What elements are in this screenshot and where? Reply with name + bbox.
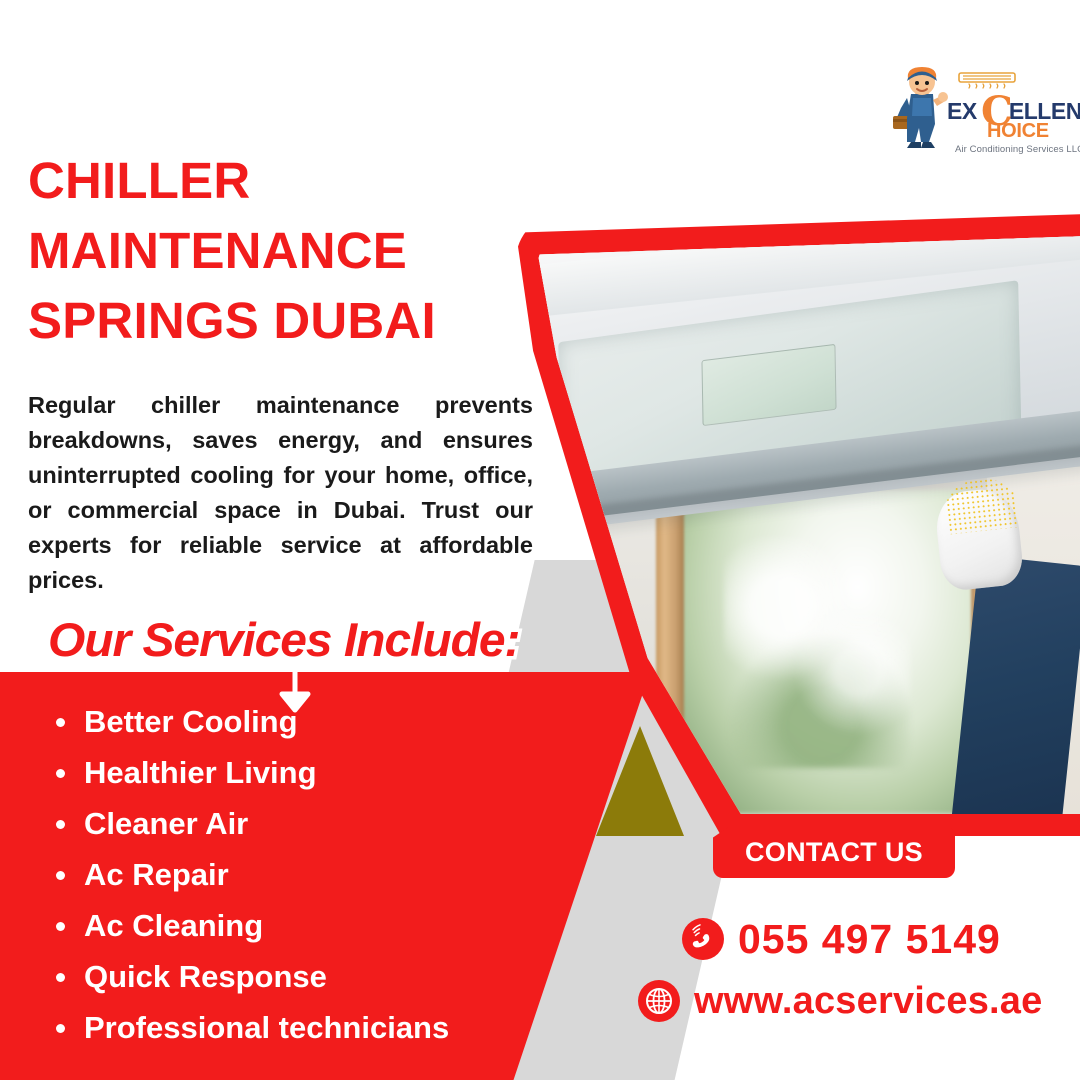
logo-tagline: Air Conditioning Services LLC <box>955 144 1080 155</box>
page-title: CHILLER MAINTENANCE SPRINGS DUBAI <box>28 146 498 356</box>
technician-mascot-icon <box>891 64 949 150</box>
contact-details: 055 497 5149 www.acservices.ae <box>638 908 1068 1032</box>
list-item: Healthier Living <box>42 747 562 798</box>
contact-us-label: CONTACT US <box>745 837 923 868</box>
list-item: Cleaner Air <box>42 798 562 849</box>
company-logo: EXCCELLENT C HOICE Air Conditioning Serv… <box>885 58 1065 156</box>
list-item: Quick Response <box>42 951 562 1002</box>
globe-icon <box>638 980 680 1022</box>
services-list: Better Cooling Healthier Living Cleaner … <box>42 696 562 1053</box>
phone-row[interactable]: 055 497 5149 <box>682 908 1068 970</box>
phone-number: 055 497 5149 <box>738 916 1001 963</box>
services-title: Our Services Include: <box>48 612 519 667</box>
body-paragraph: Regular chiller maintenance prevents bre… <box>28 388 533 598</box>
list-item: Ac Cleaning <box>42 900 562 951</box>
logo-line-two: HOICE <box>987 120 1049 143</box>
website-row[interactable]: www.acservices.ae <box>638 970 1068 1032</box>
list-item: Better Cooling <box>42 696 562 747</box>
website-url: www.acservices.ae <box>694 980 1042 1023</box>
list-item: Professional technicians <box>42 1002 562 1053</box>
poster-canvas: EXCCELLENT C HOICE Air Conditioning Serv… <box>0 0 1080 1080</box>
list-item: Ac Repair <box>42 849 562 900</box>
contact-us-banner: CONTACT US <box>713 826 955 878</box>
phone-icon <box>682 918 724 960</box>
